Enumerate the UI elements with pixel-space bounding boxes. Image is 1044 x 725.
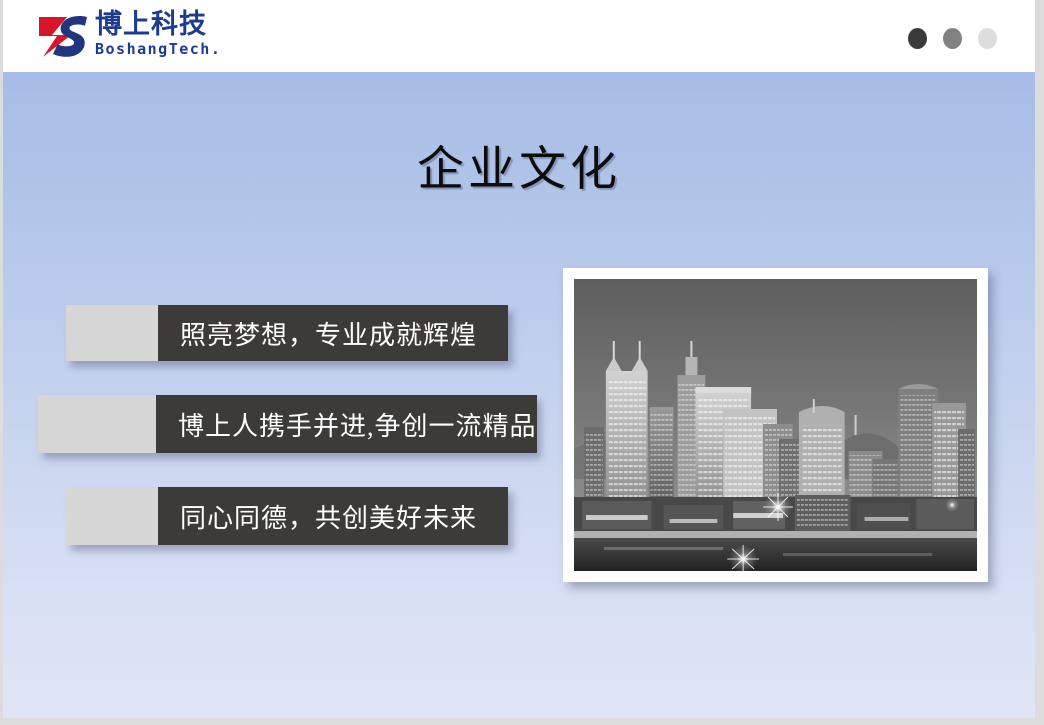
slide-indicator-dots[interactable] [908, 28, 997, 49]
slogan-accent-block [66, 487, 158, 545]
logo-wordmark: 博上科技 BoshangTech. [95, 8, 245, 58]
boshang-logo-icon [37, 13, 89, 59]
slogan-text-1: 照亮梦想，专业成就辉煌 [158, 305, 508, 361]
company-logo[interactable]: 博上科技 BoshangTech. [37, 8, 237, 64]
logo-name-cn: 博上科技 [95, 8, 245, 40]
slogan-accent-block [38, 395, 156, 453]
city-skyline-night-photo [574, 279, 977, 571]
slogan-text-3: 同心同德，共创美好未来 [158, 487, 508, 545]
presentation-slide: 博上科技 BoshangTech. 企业文化 照亮梦想，专业成就辉煌 博上人携手… [0, 0, 1044, 725]
dot-indicator-dark[interactable] [908, 28, 927, 49]
slogan-accent-block [66, 305, 158, 361]
slogan-text-2: 博上人携手并进,争创一流精品 [156, 395, 537, 453]
slogan-bar-2: 博上人携手并进,争创一流精品 [38, 395, 536, 453]
slide-header: 博上科技 BoshangTech. [3, 0, 1035, 72]
slogan-bar-3: 同心同德，共创美好未来 [66, 487, 508, 545]
photo-frame [563, 268, 988, 582]
slide-body: 企业文化 照亮梦想，专业成就辉煌 博上人携手并进,争创一流精品 同心同德，共创美… [3, 72, 1035, 718]
logo-name-en: BoshangTech. [95, 40, 245, 58]
slogan-bar-1: 照亮梦想，专业成就辉煌 [66, 305, 508, 361]
dot-indicator-light[interactable] [978, 28, 997, 49]
dot-indicator-medium[interactable] [943, 28, 962, 49]
